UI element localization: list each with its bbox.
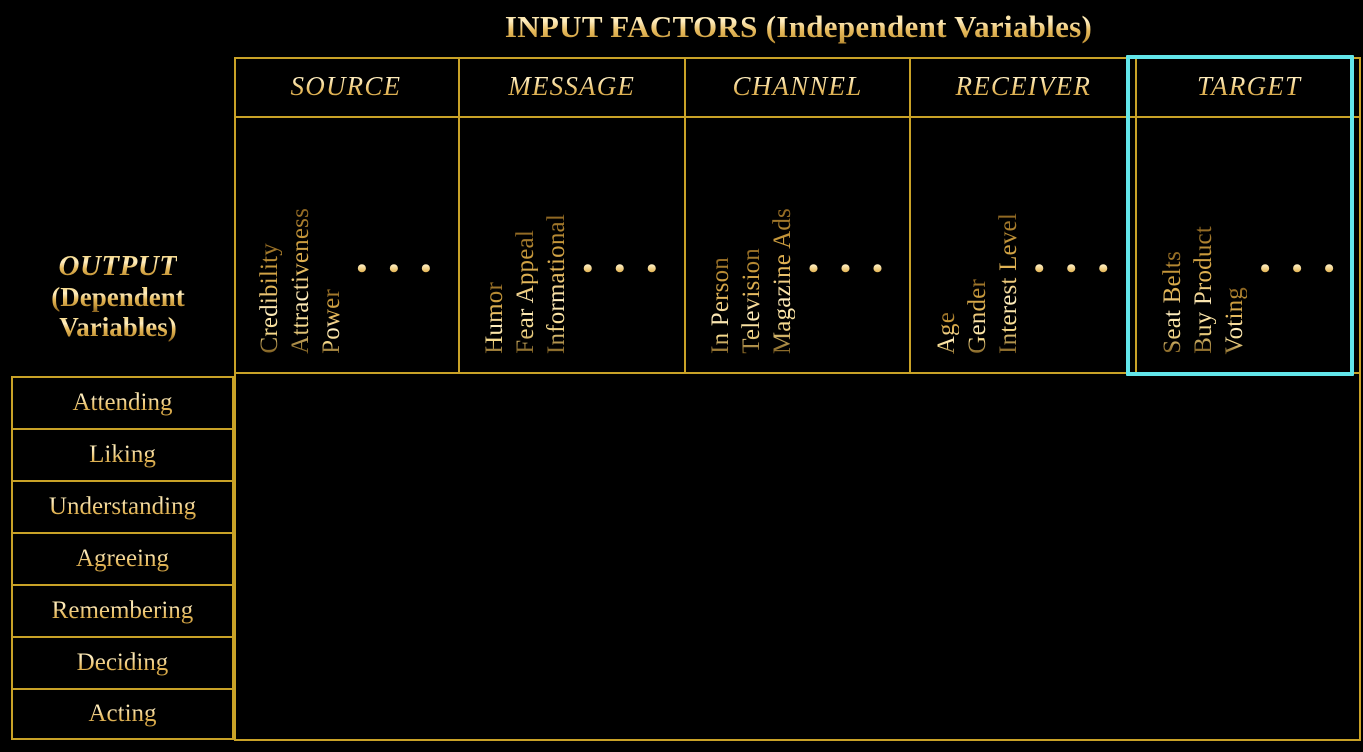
column-header-source[interactable]: SOURCE xyxy=(234,57,460,116)
output-label-line-1: OUTPUT xyxy=(59,250,178,282)
item-receiver-0: Age xyxy=(934,312,959,354)
ellipsis-source: • • • xyxy=(357,252,439,286)
item-channel-0: In Person xyxy=(708,257,733,354)
row-label-list: Attending Liking Understanding Agreeing … xyxy=(11,376,234,740)
item-message-1: Fear Appeal xyxy=(513,230,538,354)
row-label-remembering[interactable]: Remembering xyxy=(11,584,234,636)
row-label-liking[interactable]: Liking xyxy=(11,428,234,480)
ellipsis-channel: • • • xyxy=(808,252,890,286)
item-channel-1: Television xyxy=(739,248,764,354)
column-items-source: Credibility Attractiveness Power • • • xyxy=(234,118,460,372)
item-message-2: Informational xyxy=(544,214,569,354)
row-label-acting[interactable]: Acting xyxy=(11,688,234,740)
item-receiver-1: Gender xyxy=(965,279,990,354)
row-label-attending[interactable]: Attending xyxy=(11,376,234,428)
item-source-2: Power xyxy=(319,289,344,354)
item-receiver-2: Interest Level xyxy=(996,213,1021,354)
column-header-message[interactable]: MESSAGE xyxy=(460,57,686,116)
column-header-channel[interactable]: CHANNEL xyxy=(686,57,912,116)
column-items-receiver: Age Gender Interest Level • • • xyxy=(911,118,1137,372)
row-label-understanding[interactable]: Understanding xyxy=(11,480,234,532)
target-column-highlight-box xyxy=(1126,55,1354,376)
column-items-channel: In Person Television Magazine Ads • • • xyxy=(686,118,912,372)
item-channel-2: Magazine Ads xyxy=(770,208,795,354)
ellipsis-message: • • • xyxy=(582,252,664,286)
row-label-agreeing[interactable]: Agreeing xyxy=(11,532,234,584)
page-title: INPUT FACTORS (Independent Variables) xyxy=(234,2,1363,52)
column-items-message: Humor Fear Appeal Informational • • • xyxy=(460,118,686,372)
item-source-0: Credibility xyxy=(257,243,282,354)
output-label-line-2: (Dependent xyxy=(51,282,185,312)
item-source-1: Attractiveness xyxy=(288,208,313,354)
column-header-receiver[interactable]: RECEIVER xyxy=(911,57,1137,116)
output-label-line-3: Variables) xyxy=(59,312,177,342)
row-label-deciding[interactable]: Deciding xyxy=(11,636,234,688)
item-message-0: Humor xyxy=(482,282,507,354)
output-axis-label: OUTPUT (Dependent Variables) xyxy=(4,228,232,364)
ellipsis-receiver: • • • xyxy=(1034,252,1116,286)
